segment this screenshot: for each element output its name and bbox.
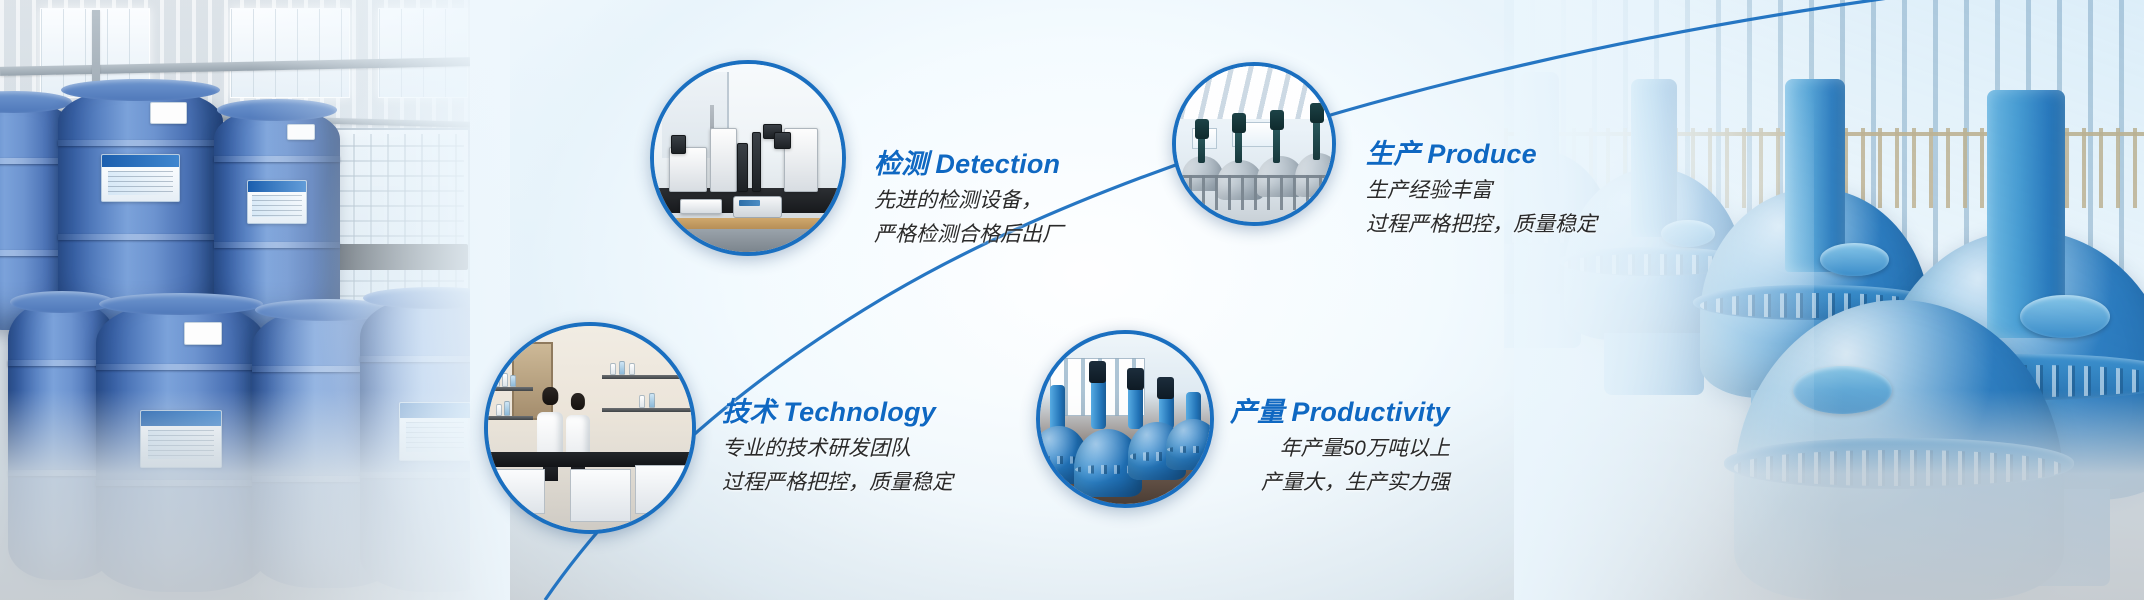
detection-photo-circle bbox=[650, 60, 846, 256]
detection-line-2: 严格检测合格后出厂 bbox=[874, 220, 1063, 250]
technology-title-cn: 技术 bbox=[722, 397, 776, 427]
produce-line-1: 生产经验丰富 bbox=[1366, 176, 1597, 206]
produce-photo-circle bbox=[1172, 62, 1336, 226]
feature-text-productivity: 产量Productivity 年产量50万吨以上 产量大，生产实力强 bbox=[1230, 396, 1450, 497]
technology-line-2: 过程严格把控，质量稳定 bbox=[722, 468, 953, 498]
technology-heading: 技术Technology bbox=[722, 396, 953, 430]
lab-technician bbox=[537, 387, 564, 481]
productivity-line-1: 年产量50万吨以上 bbox=[1230, 434, 1450, 464]
detection-heading: 检测Detection bbox=[874, 148, 1063, 182]
technology-title-en: Technology bbox=[776, 397, 936, 427]
productivity-photo-circle bbox=[1036, 330, 1214, 508]
productivity-title-cn: 产量 bbox=[1230, 397, 1284, 427]
produce-line-2: 过程严格把控，质量稳定 bbox=[1366, 210, 1597, 240]
technology-line-1: 专业的技术研发团队 bbox=[722, 434, 953, 464]
feature-text-detection: 检测Detection 先进的检测设备， 严格检测合格后出厂 bbox=[874, 148, 1063, 249]
productivity-title-en: Productivity bbox=[1284, 397, 1449, 427]
capability-banner: 检测Detection 先进的检测设备， 严格检测合格后出厂 生产Produce… bbox=[0, 0, 2144, 600]
feature-text-produce: 生产Produce 生产经验丰富 过程严格把控，质量稳定 bbox=[1366, 138, 1597, 239]
technology-photo-circle bbox=[484, 322, 696, 534]
detection-title-en: Detection bbox=[928, 149, 1060, 179]
produce-title-en: Produce bbox=[1420, 139, 1536, 169]
produce-title-cn: 生产 bbox=[1366, 139, 1420, 169]
detection-line-1: 先进的检测设备， bbox=[874, 186, 1063, 216]
feature-text-technology: 技术Technology 专业的技术研发团队 过程严格把控，质量稳定 bbox=[722, 396, 953, 497]
detection-title-cn: 检测 bbox=[874, 149, 928, 179]
productivity-heading: 产量Productivity bbox=[1230, 396, 1450, 430]
productivity-line-2: 产量大，生产实力强 bbox=[1230, 468, 1450, 498]
produce-heading: 生产Produce bbox=[1366, 138, 1597, 172]
